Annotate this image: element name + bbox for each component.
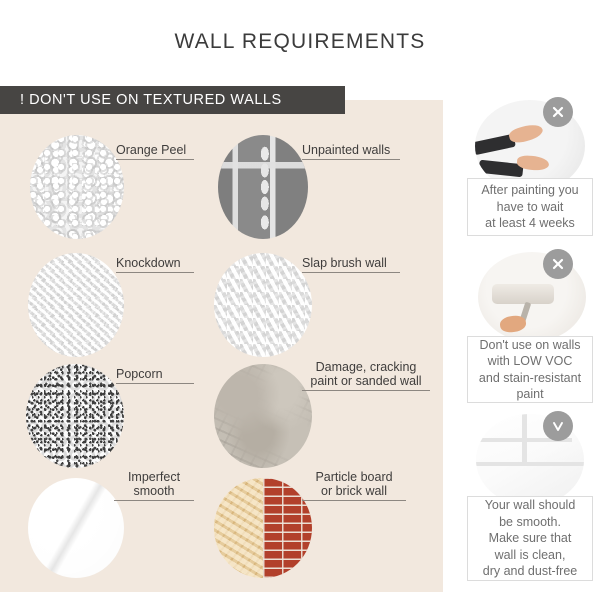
texture-circle-orange-peel (30, 135, 124, 239)
texture-label-knockdown: Knockdown (116, 256, 194, 273)
texture-circle-imperfect-smooth (28, 478, 124, 578)
texture-label-imperfect-smooth: Imperfect smooth (114, 470, 194, 501)
texture-label-orange-peel: Orange Peel (116, 143, 194, 160)
label-underline (302, 159, 400, 160)
roller-body-shape (492, 284, 554, 304)
cross-icon (543, 97, 573, 127)
texture-circle-popcorn (26, 364, 124, 468)
label-underline (116, 159, 194, 160)
check-icon (543, 411, 573, 441)
texture-label-slap-brush-wall: Slap brush wall (302, 256, 400, 273)
hand-shape (499, 314, 527, 333)
label-underline (302, 500, 406, 501)
texture-circle-slap-brush-wall (214, 253, 312, 357)
osb-half (214, 478, 263, 578)
texture-circle-damage-cracking (214, 364, 312, 468)
label-underline (116, 272, 194, 273)
texture-circle-particle-board-brick (214, 478, 312, 578)
caption-wait-4-weeks: After painting you have to wait at least… (467, 178, 593, 236)
caption-smooth-clean-wall: Your wall should be smooth. Make sure th… (467, 496, 593, 581)
hand-shape (508, 122, 545, 146)
texture-circle-unpainted-walls (218, 135, 308, 239)
texture-label-popcorn: Popcorn (116, 367, 194, 384)
label-underline (302, 272, 400, 273)
window-frame-horizontal (476, 462, 584, 466)
caption-low-voc-paint: Don't use on walls with LOW VOC and stai… (467, 336, 593, 403)
texture-circle-knockdown (28, 253, 124, 357)
infographic-root: WALL REQUIREMENTS ! DON'T USE ON TEXTURE… (0, 0, 600, 600)
label-underline (114, 500, 194, 501)
label-underline (116, 383, 194, 384)
cross-icon (543, 249, 573, 279)
side-card-smooth-clean-wall: Your wall should be smooth. Make sure th… (0, 0, 108, 92)
texture-label-damage-cracking: Damage, cracking paint or sanded wall (302, 360, 430, 391)
texture-label-particle-board-brick: Particle board or brick wall (302, 470, 406, 501)
texture-label-unpainted-walls: Unpainted walls (302, 143, 400, 160)
label-underline (302, 390, 430, 391)
